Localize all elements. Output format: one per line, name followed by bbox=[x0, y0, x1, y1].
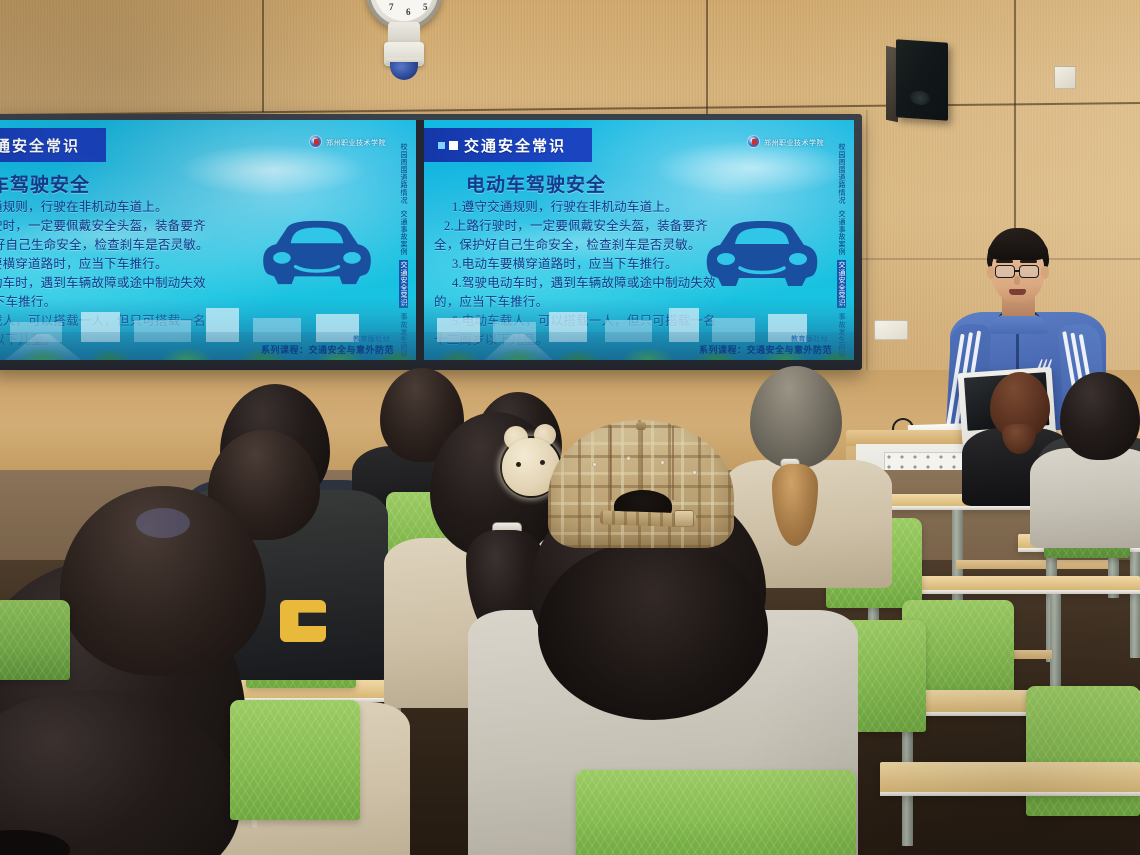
side-nav-item[interactable]: 交通事故案例 bbox=[399, 209, 408, 257]
cap-seam bbox=[641, 426, 643, 500]
slide-point: 1.遵守交通规则，行驶在非机动车道上。 bbox=[434, 198, 716, 216]
slide-header-text: 交通安全常识 bbox=[464, 135, 566, 156]
chair[interactable] bbox=[0, 600, 70, 680]
student-top bbox=[1030, 448, 1140, 548]
car-front-icon bbox=[702, 216, 822, 292]
side-nav-item[interactable]: 校园周围道路情况 bbox=[837, 142, 846, 205]
presenter-eyebrow-left bbox=[996, 260, 1013, 263]
power-outlet-plate[interactable] bbox=[874, 320, 908, 340]
side-nav-item[interactable]: 校园周围道路情况 bbox=[399, 142, 408, 205]
chair[interactable] bbox=[230, 700, 360, 820]
display-panel-right[interactable]: 交通安全常识 郑州职业技术学院 电动车驾驶安全 1.遵守交通规则，行驶在非机动车… bbox=[424, 120, 854, 360]
student-head bbox=[1060, 372, 1140, 460]
clock-numeral-7: 7 bbox=[389, 2, 394, 12]
cap-eyelet bbox=[660, 460, 665, 465]
slide-header-band: 交通安全常识 bbox=[424, 128, 592, 162]
student-head bbox=[0, 690, 240, 855]
wall-speaker bbox=[896, 39, 948, 121]
cap-seam bbox=[672, 426, 674, 500]
student-hair-fall bbox=[538, 540, 768, 720]
presenter-nose bbox=[1014, 276, 1020, 285]
cap-eyelet bbox=[692, 470, 697, 475]
cap-top-button bbox=[636, 422, 646, 430]
clock-numeral-6: 6 bbox=[406, 7, 411, 17]
eyeglasses-lens-left bbox=[995, 265, 1015, 278]
student bbox=[1040, 372, 1140, 522]
header-square-icon bbox=[438, 142, 445, 149]
hair-clip bbox=[136, 508, 190, 538]
cap-seam bbox=[610, 426, 612, 500]
presenter-mouth bbox=[1009, 289, 1026, 295]
student-head bbox=[750, 366, 842, 468]
slide-point: 2.上路行驶时，一定要佩戴安全头盔，装备要齐 bbox=[434, 217, 716, 235]
header-square-icon bbox=[449, 141, 458, 150]
slide-point: 全，保护好自己生命安全，检查刹车是否灵敏。 bbox=[434, 236, 716, 254]
presenter-ear-left bbox=[987, 266, 995, 279]
presenter-eyebrow-right bbox=[1020, 260, 1037, 263]
speaker-driver-icon bbox=[910, 90, 930, 105]
slide-point: 4.驾驶电动车时，遇到车辆故障或途中制动失效 bbox=[434, 274, 716, 292]
presenter-ear-right bbox=[1041, 266, 1049, 279]
display-bezel-gap bbox=[416, 120, 424, 364]
slide-point: 3.电动车要横穿道路时，应当下车推行。 bbox=[434, 255, 716, 273]
wall-access-plate bbox=[1054, 66, 1076, 89]
wall-seam-vertical-2 bbox=[706, 0, 708, 120]
side-nav-item[interactable]: 交通事故案例 bbox=[837, 209, 846, 257]
bear-eye-icon bbox=[540, 460, 545, 465]
slide-title: 电动车驾驶安全 bbox=[466, 170, 606, 197]
car-illustration bbox=[702, 216, 822, 292]
logo-emblem-icon bbox=[747, 135, 760, 148]
student bbox=[40, 486, 270, 696]
slide-footer: 系列课程：交通安全与意外防范 bbox=[699, 343, 832, 356]
cap-eyelet bbox=[626, 456, 631, 461]
slide-right: 交通安全常识 郑州职业技术学院 电动车驾驶安全 1.遵守交通规则，行驶在非机动车… bbox=[424, 120, 854, 360]
eyeglasses-bridge bbox=[1015, 270, 1019, 272]
presenter-fringe bbox=[988, 238, 1048, 260]
institution-logo: 郑州职业技术学院 bbox=[747, 132, 824, 150]
cap-buckle bbox=[674, 510, 694, 527]
clock-face: 7 6 5 bbox=[375, 0, 433, 21]
slide-footer: 系列课程：交通安全与意外防范 bbox=[261, 343, 394, 356]
plaid-baseball-cap bbox=[548, 420, 734, 548]
bear-eye-icon bbox=[516, 462, 521, 467]
logo-name: 郑州职业技术学院 bbox=[764, 140, 824, 147]
clock-numeral-5: 5 bbox=[423, 2, 428, 12]
student bbox=[0, 690, 240, 855]
cap-eyelet bbox=[592, 462, 597, 467]
eyeglasses-lens-right bbox=[1019, 265, 1039, 278]
classroom-scene: 7 6 5 交通安全常识 bbox=[0, 0, 1140, 855]
